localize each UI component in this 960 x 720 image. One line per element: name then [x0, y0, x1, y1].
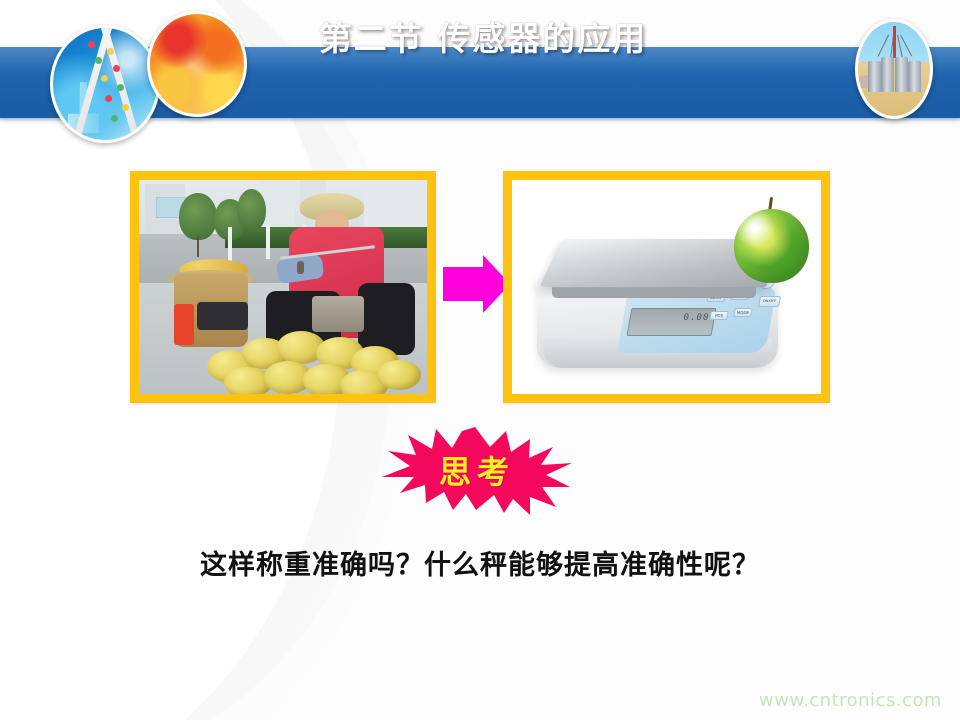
green-apple — [734, 197, 808, 283]
dna-bead — [122, 104, 129, 111]
tree — [237, 189, 266, 232]
photo-inner-mat — [139, 180, 427, 394]
street-vendor-photo-frame — [130, 171, 436, 403]
silo-tank — [895, 57, 908, 92]
digital-scale-photo: 0.00 ZERO TARE PCS MODE ON/OFF — [512, 180, 821, 394]
shoulder-bag — [312, 296, 364, 332]
tree-trunk — [197, 236, 199, 257]
grain-silo-badge — [855, 19, 933, 119]
silo-tank — [881, 57, 894, 92]
scale-lcd-display: 0.00 — [627, 308, 717, 336]
apple-body — [734, 209, 808, 283]
street-vendor-photo — [139, 180, 427, 394]
crane-rope — [878, 35, 890, 57]
site-watermark: www.cntronics.com — [759, 690, 942, 711]
think-callout: 思考 — [378, 425, 572, 515]
digital-scale-photo-frame: 0.00 ZERO TARE PCS MODE ON/OFF — [503, 171, 830, 403]
dna-bead — [95, 57, 102, 64]
scale-lcd-value: 0.00 — [683, 313, 710, 323]
dna-bead — [105, 95, 112, 102]
street-pole — [228, 227, 232, 261]
question-text: 这样称重准确吗？什么秤能够提高准确性呢？ — [0, 543, 960, 582]
black-bag — [197, 302, 249, 330]
dna-bead — [101, 75, 108, 82]
scale-pcs-button[interactable]: PCS — [709, 311, 729, 320]
scale-mode-button[interactable]: MODE — [734, 308, 754, 317]
silo-tank — [868, 61, 881, 92]
science-dna-badge — [50, 25, 160, 143]
steelyard-weight — [297, 261, 304, 274]
think-callout-label: 思考 — [378, 425, 572, 515]
slide-canvas: 第二节 传感器的应用 — [0, 0, 960, 720]
pomelo-pile — [202, 330, 421, 394]
dna-bead — [88, 41, 95, 48]
scale-onoff-button[interactable]: ON/OFF — [758, 296, 781, 307]
silo-tank — [908, 61, 921, 92]
pomelo — [377, 360, 421, 390]
dna-bead — [111, 115, 118, 122]
tree — [179, 193, 216, 240]
food-badge — [147, 11, 247, 117]
street-pole — [266, 225, 270, 259]
photo-inner-mat: 0.00 ZERO TARE PCS MODE ON/OFF — [512, 180, 821, 394]
red-cloth — [174, 304, 194, 345]
transition-arrow — [443, 255, 510, 313]
